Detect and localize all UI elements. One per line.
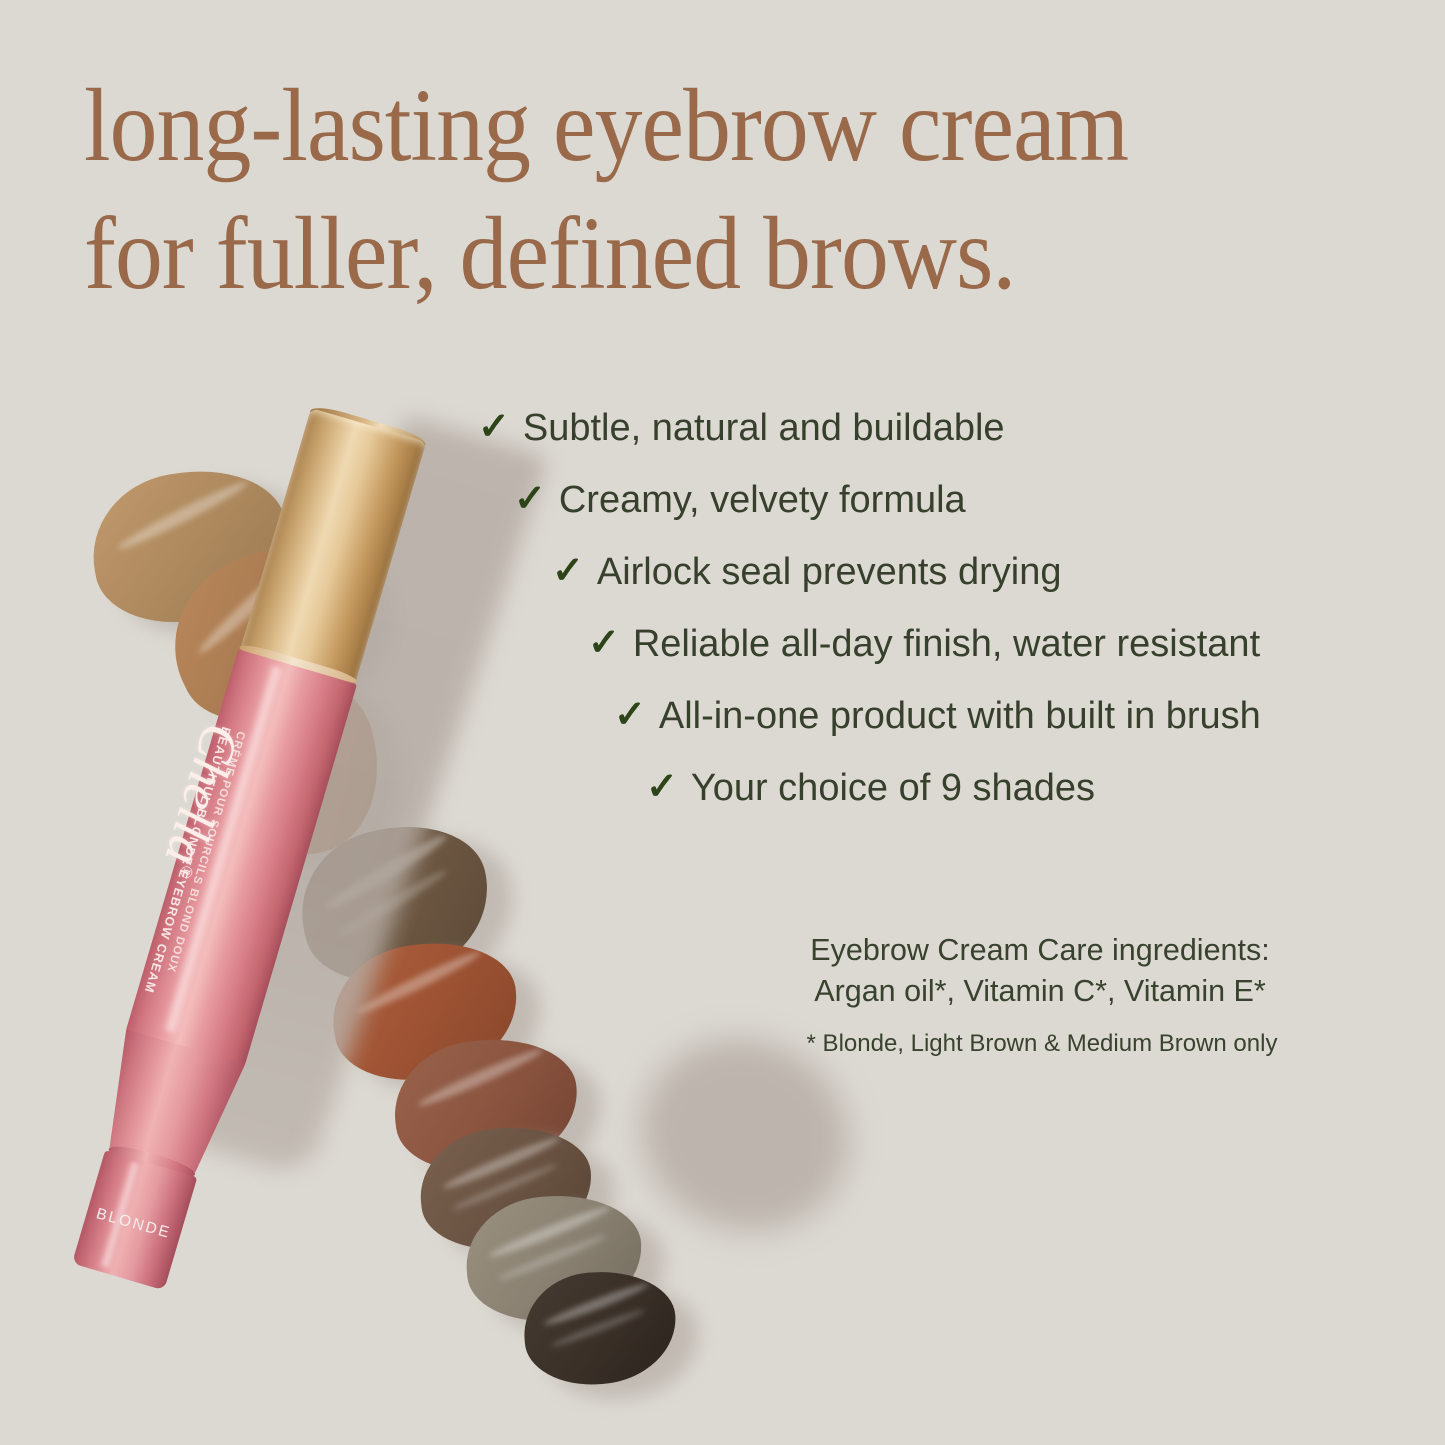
feature-item-5: ✓ All-in-one product with built in brush [614,694,1261,738]
feature-item-3: ✓ Airlock seal prevents drying [552,550,1062,594]
feature-item-2: ✓ Creamy, velvety formula [514,478,966,522]
check-icon: ✓ [588,621,620,665]
feature-item-1: ✓ Subtle, natural and buildable [478,406,1005,450]
ingredients-line-2: Argan oil*, Vitamin C*, Vitamin E* [760,971,1320,1012]
check-icon: ✓ [614,693,646,737]
ingredients-line-1: Eyebrow Cream Care ingredients: [760,930,1320,971]
ingredients-block: Eyebrow Cream Care ingredients: Argan oi… [760,930,1320,1012]
check-icon: ✓ [646,765,678,809]
feature-item-5-label: All-in-one product with built in brush [659,694,1261,738]
check-icon: ✓ [552,549,584,593]
check-icon: ✓ [514,477,546,521]
feature-item-6: ✓ Your choice of 9 shades [646,766,1095,810]
feature-item-3-label: Airlock seal prevents drying [597,550,1062,594]
ingredients-footnote: * Blonde, Light Brown & Medium Brown onl… [742,1028,1342,1060]
product-marketing-image: long-lasting eyebrow cream for fuller, d… [0,0,1445,1445]
feature-item-2-label: Creamy, velvety formula [559,478,966,522]
feature-item-4-label: Reliable all-day finish, water resistant [633,622,1260,666]
feature-item-4: ✓ Reliable all-day finish, water resista… [588,622,1260,666]
feature-item-6-label: Your choice of 9 shades [691,766,1095,810]
feature-item-1-label: Subtle, natural and buildable [523,406,1005,450]
check-icon: ✓ [478,405,510,449]
